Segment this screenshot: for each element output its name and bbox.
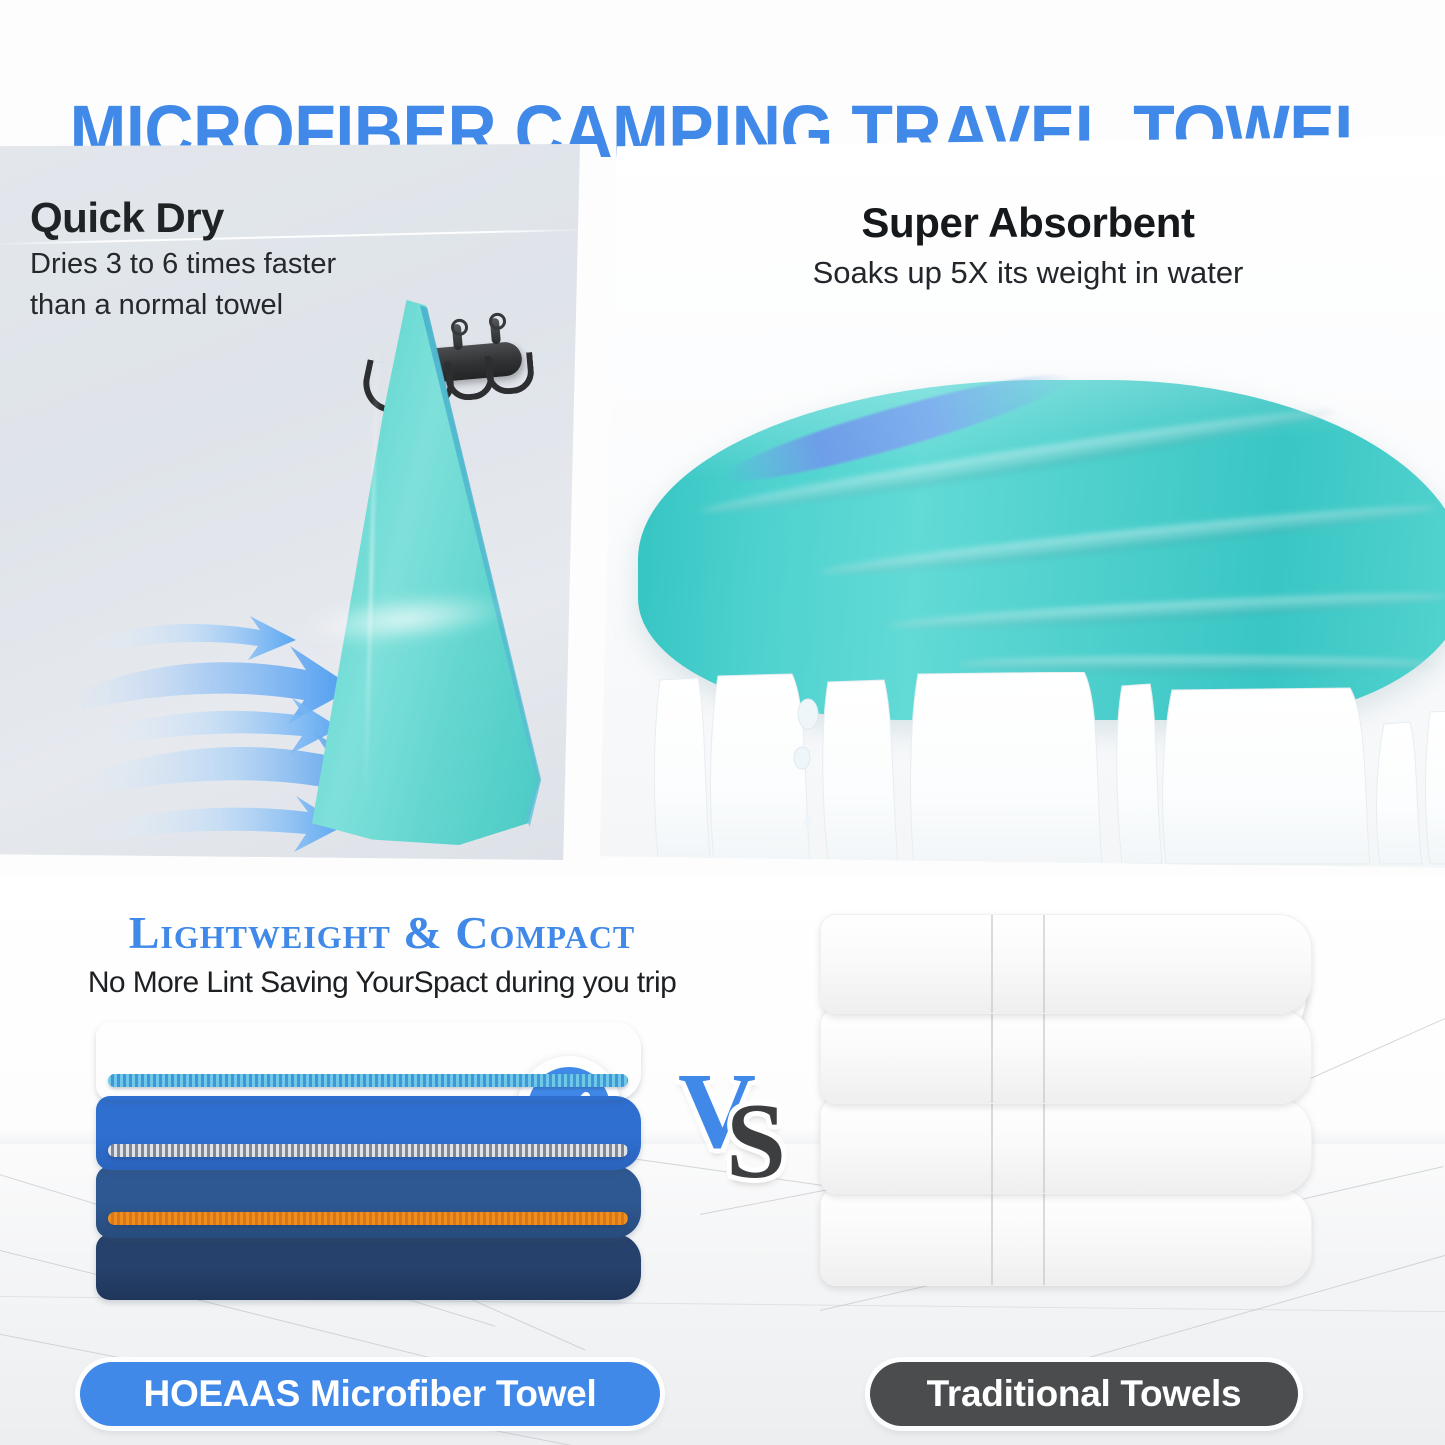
wet-towel-fold-4 [958,656,1438,672]
super-absorbent-subtext: Soaks up 5X its weight in water [598,253,1445,293]
lightweight-heading: Lightweight & Compact [52,906,712,960]
teal-towel-mesh-trim [108,1074,628,1087]
towel-fold-seam [1043,1009,1045,1103]
teal-towel [96,1022,641,1100]
lightweight-text-block: Lightweight & Compact No More Lint Savin… [52,906,712,1002]
panel-super-absorbent: Super Absorbent Soaks up 5X its weight i… [598,136,1445,868]
versus-letter-s: S [726,1088,786,1196]
royal-blue-towel [96,1096,641,1170]
towel-fold-seam [991,1009,993,1103]
water-drips-icon [632,672,1445,868]
towel-fold-seam [1043,1099,1045,1193]
wet-towel-fold-3 [888,587,1445,634]
towel-fold-seam [991,1189,993,1285]
lightweight-subtext: No More Lint Saving YourSpact during you… [52,964,712,1002]
white-towel-2 [820,1008,1312,1104]
hook-top-3 [490,318,501,345]
wet-teal-towel [638,380,1445,720]
towel-fold-seam [991,915,993,1013]
super-absorbent-heading: Super Absorbent [598,198,1445,248]
super-absorbent-text-block: Super Absorbent Soaks up 5X its weight i… [598,198,1445,293]
navy-towel [96,1166,641,1238]
hook-top-2 [452,324,463,351]
product-label-badge: HOEAAS Microfiber Towel [80,1362,660,1426]
dark-navy-towel [96,1234,641,1300]
quick-dry-subtext-line2: than a normal towel [30,287,430,324]
towel-fold-seam [991,1099,993,1193]
competitor-label-badge: Traditional Towels [870,1362,1298,1426]
white-towel-4 [820,1188,1312,1286]
royal-blue-towel-mesh-trim [108,1144,628,1157]
white-towel-3 [820,1098,1312,1194]
quick-dry-text-block: Quick Dry Dries 3 to 6 times faster than… [30,194,430,324]
navy-towel-mesh-trim [108,1212,628,1225]
wet-towel-fold-2 [819,498,1438,583]
infographic-canvas: MICROFIBER CAMPING TRAVEL TOWEL Quick Dr… [0,0,1445,1445]
quick-dry-subtext-line1: Dries 3 to 6 times faster [30,246,430,283]
towel-fold-seam [1043,915,1045,1013]
hook-curve-3 [484,352,535,396]
towel-fold-seam [1043,1189,1045,1285]
white-towel-1 [820,914,1312,1014]
microfiber-towel-stack [96,1022,656,1272]
quick-dry-heading: Quick Dry [30,194,430,242]
traditional-towel-stack [820,914,1320,1294]
versus-graphic: V S [678,1058,808,1208]
